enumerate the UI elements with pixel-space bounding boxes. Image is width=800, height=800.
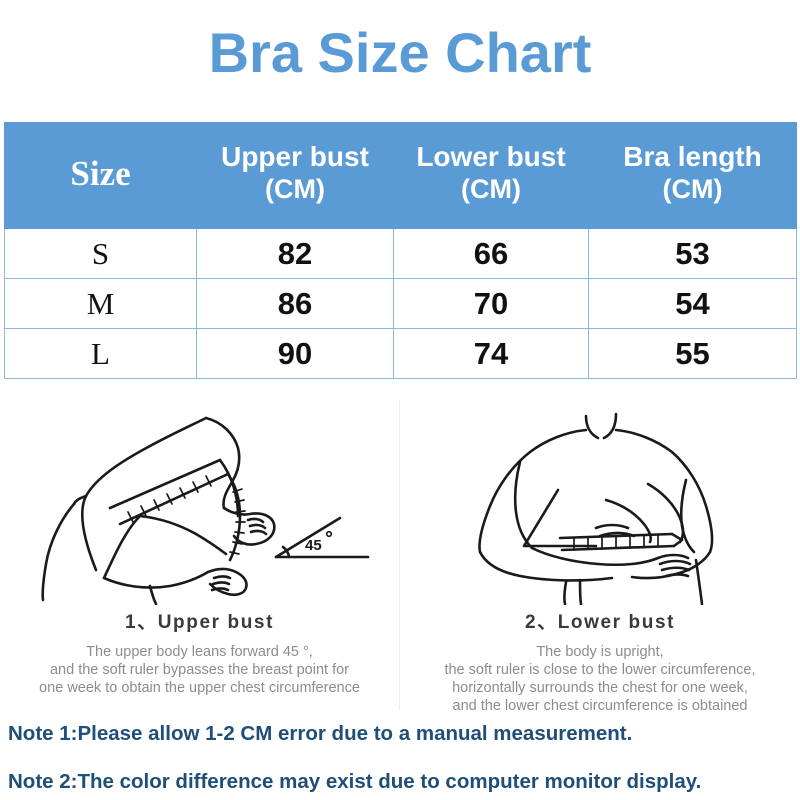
cell-size: S — [5, 229, 197, 279]
page-title-wrap: Bra Size Chart — [0, 22, 800, 84]
column-header-lower-bust: Lower bust (CM) — [394, 123, 589, 229]
note-1: Note 1:Please allow 1-2 CM error due to … — [8, 722, 800, 746]
cell-upper-bust: 82 — [197, 229, 394, 279]
cell-bra-length-value: 54 — [675, 286, 709, 321]
panel-lower-bust-line-4: and the lower chest circumference is obt… — [402, 697, 798, 715]
cell-bra-length: 53 — [589, 229, 797, 279]
table-header-row: Size Upper bust (CM) Lower bust (CM) Bra… — [5, 123, 797, 229]
panel-lower-bust-description: The body is upright, the soft ruler is c… — [402, 643, 798, 715]
cell-upper-bust-value: 86 — [278, 286, 312, 321]
panel-upper-bust-line-1: The upper body leans forward 45 °, — [2, 643, 398, 661]
panel-lower-bust: 2、Lower bust The body is upright, the so… — [400, 400, 800, 710]
upper-bust-illustration: 45 — [0, 400, 400, 605]
cell-upper-bust-value: 82 — [278, 236, 312, 271]
column-header-upper-bust-unit: (CM) — [201, 173, 389, 206]
table-body: S 82 66 53 M 86 70 54 L 90 74 55 — [5, 229, 797, 379]
table-row: S 82 66 53 — [5, 229, 797, 279]
panel-lower-bust-heading: 2、Lower bust — [525, 607, 675, 634]
cell-lower-bust-value: 70 — [474, 286, 508, 321]
cell-bra-length-value: 53 — [675, 236, 709, 271]
cell-bra-length: 55 — [589, 329, 797, 379]
cell-bra-length-value: 55 — [675, 336, 709, 371]
cell-upper-bust: 86 — [197, 279, 394, 329]
column-header-lower-bust-unit: (CM) — [398, 173, 584, 206]
angle-45-diagram: 45 — [276, 518, 368, 557]
size-chart-page: Bra Size Chart Size Upper bust (CM) Lowe… — [0, 0, 800, 800]
instruction-panels: 45 1、Upper bust The upper body leans for… — [0, 400, 800, 710]
size-table: Size Upper bust (CM) Lower bust (CM) Bra… — [4, 122, 797, 379]
cell-upper-bust: 90 — [197, 329, 394, 379]
column-header-lower-bust-label: Lower bust — [416, 141, 565, 172]
table-header: Size Upper bust (CM) Lower bust (CM) Bra… — [5, 123, 797, 229]
cell-lower-bust: 74 — [394, 329, 589, 379]
panel-upper-bust: 45 1、Upper bust The upper body leans for… — [0, 400, 400, 710]
cell-size: L — [5, 329, 197, 379]
panel-upper-bust-line-3: one week to obtain the upper chest circu… — [2, 679, 398, 697]
column-header-upper-bust: Upper bust (CM) — [197, 123, 394, 229]
cell-upper-bust-value: 90 — [278, 336, 312, 371]
cell-lower-bust: 66 — [394, 229, 589, 279]
cell-lower-bust: 70 — [394, 279, 589, 329]
panel-lower-bust-line-1: The body is upright, — [402, 643, 798, 661]
svg-text:45: 45 — [305, 537, 322, 554]
lower-bust-illustration — [400, 400, 800, 605]
cell-lower-bust-value: 66 — [474, 236, 508, 271]
column-header-bra-length: Bra length (CM) — [589, 123, 797, 229]
panel-lower-bust-line-3: horizontally surrounds the chest for one… — [402, 679, 798, 697]
notes-section: Note 1:Please allow 1-2 CM error due to … — [8, 722, 800, 794]
cell-bra-length: 54 — [589, 279, 797, 329]
cell-lower-bust-value: 74 — [474, 336, 508, 371]
panel-lower-bust-line-2: the soft ruler is close to the lower cir… — [402, 661, 798, 679]
note-2: Note 2:The color difference may exist du… — [8, 770, 800, 794]
panel-upper-bust-heading: 1、Upper bust — [125, 607, 274, 634]
table-row: M 86 70 54 — [5, 279, 797, 329]
column-header-size: Size — [5, 123, 197, 229]
column-header-bra-length-unit: (CM) — [593, 173, 792, 206]
column-header-bra-length-label: Bra length — [623, 141, 761, 172]
column-header-upper-bust-label: Upper bust — [221, 141, 369, 172]
cell-size: M — [5, 279, 197, 329]
table-row: L 90 74 55 — [5, 329, 797, 379]
panel-upper-bust-line-2: and the soft ruler bypasses the breast p… — [2, 661, 398, 679]
page-title: Bra Size Chart — [0, 22, 800, 84]
panel-upper-bust-description: The upper body leans forward 45 °, and t… — [2, 643, 398, 697]
